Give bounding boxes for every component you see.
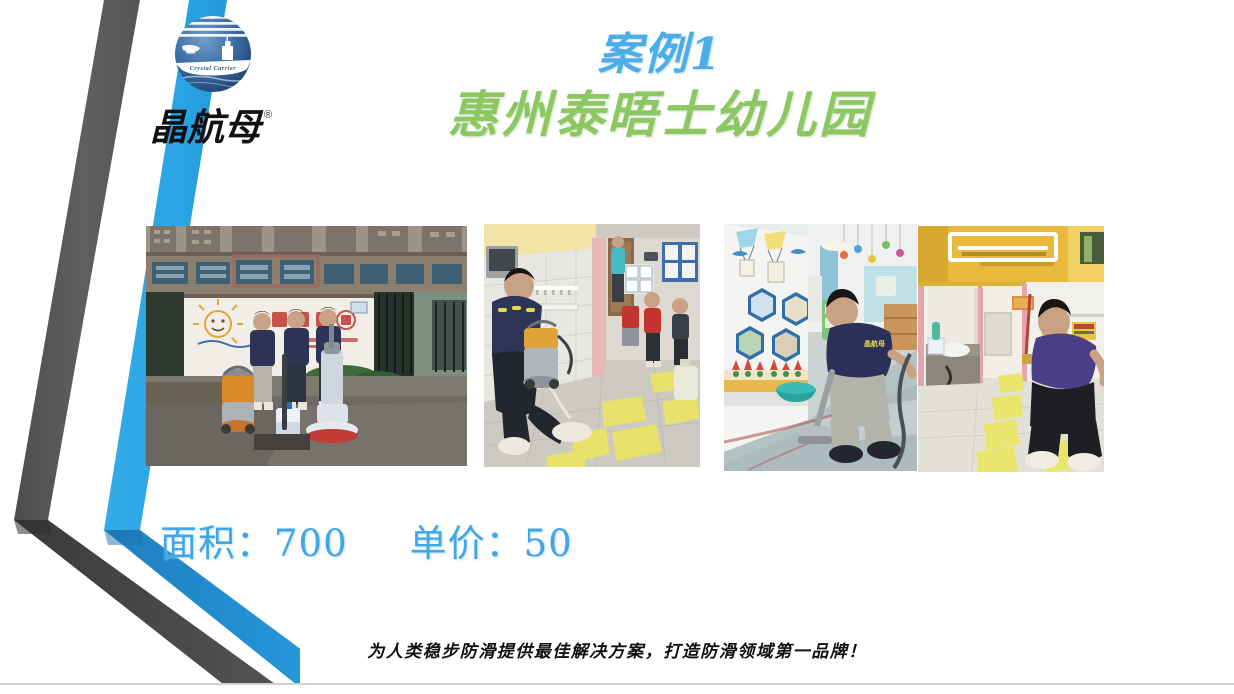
footer-strip (0, 685, 1234, 694)
project-stats: 面积： 700 单价： 50 (160, 513, 573, 567)
title-group: 案例1 惠州泰晤士幼儿园 (400, 30, 920, 144)
child-dark (672, 298, 689, 365)
wordmark-text: 晶航母 (150, 105, 265, 149)
svg-text:晶航母: 晶航母 (864, 339, 885, 348)
area-label: 面积： (160, 513, 274, 567)
photo-corridor-vacuum (484, 224, 700, 467)
slide-canvas: Crystal Carrier 晶航母 ® 案例1 惠州泰晤士幼儿园 (0, 0, 1234, 694)
child-red (644, 292, 661, 367)
footer-slogan: 为人类稳步防滑提供最佳解决方案，打造防滑领域第一品牌！ (0, 637, 1234, 662)
wet-vacuum (221, 367, 255, 434)
photo-classroom-mopping: 晶航母 (724, 224, 917, 471)
case-label: 案例1 (400, 30, 920, 81)
registered-mark: ® (264, 109, 272, 121)
photo-washroom-treatment (918, 226, 1104, 472)
photo-kindergarten-entrance (146, 226, 467, 466)
price-value: 50 (524, 522, 573, 565)
photo-gallery: 晶航母 (146, 224, 1106, 472)
area-value: 700 (274, 522, 348, 565)
svg-text:Crystal Carrier: Crystal Carrier (190, 66, 237, 72)
brand-wordmark: 晶航母 ® (148, 100, 278, 152)
price-label: 单价： (410, 513, 524, 567)
project-name: 惠州泰晤士幼儿园 (400, 85, 920, 144)
brand-logo: Crystal Carrier 晶航母 ® (148, 4, 278, 159)
ship-logo-icon: Crystal Carrier (163, 4, 263, 104)
